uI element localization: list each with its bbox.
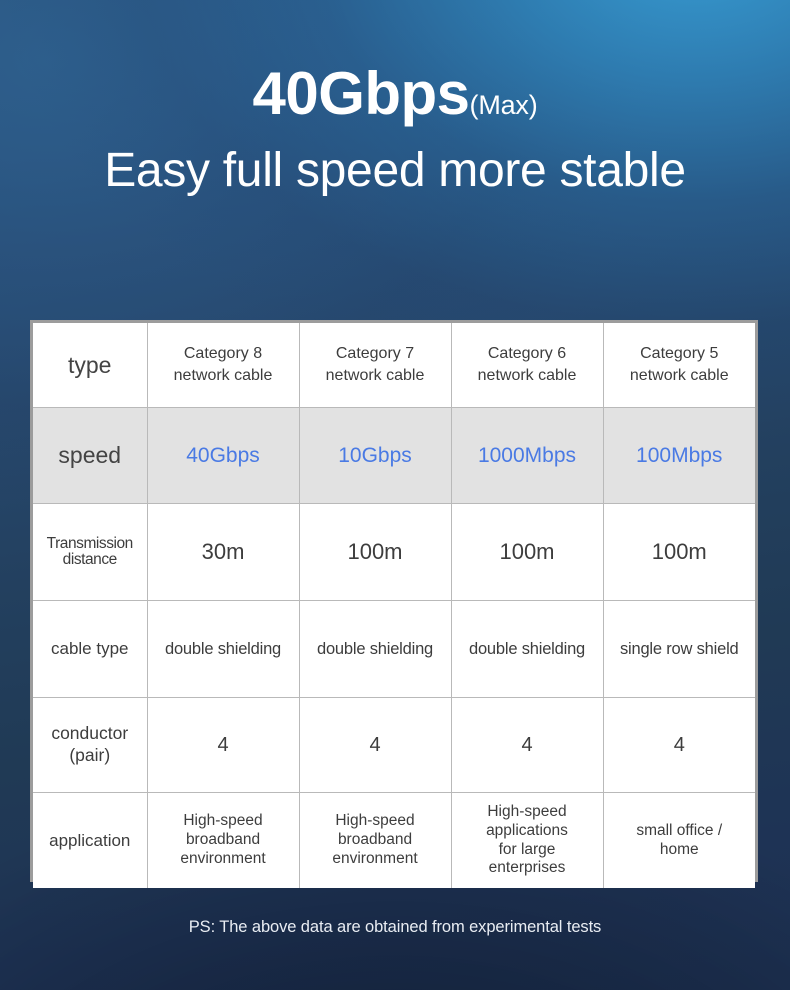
cell-conductor-cat8: 4 [147, 698, 299, 793]
cell-line: High-speed [302, 812, 449, 831]
table-row-speed: speed 40Gbps 10Gbps 1000Mbps 100Mbps [33, 408, 755, 504]
cell-application-cat6: High-speed applications for large enterp… [451, 793, 603, 889]
cell-line: applications [454, 822, 601, 841]
cell-line: High-speed [454, 803, 601, 822]
cell-distance-cat8: 30m [147, 504, 299, 601]
cell-speed-cat7: 10Gbps [299, 408, 451, 504]
cell-application-cat8: High-speed broadband environment [147, 793, 299, 889]
label-line: (pair) [35, 745, 145, 767]
cell-distance-cat5: 100m [603, 504, 755, 601]
cell-line: enterprises [454, 859, 601, 878]
hero-subtitle: Easy full speed more stable [0, 146, 790, 196]
cell-line: Category 7 [302, 343, 449, 365]
cell-type-cat8: Category 8 network cable [147, 323, 299, 408]
cell-type-cat5: Category 5 network cable [603, 323, 755, 408]
cell-conductor-cat7: 4 [299, 698, 451, 793]
cell-speed-cat8: 40Gbps [147, 408, 299, 504]
cell-cabletype-cat6: double shielding [451, 601, 603, 698]
table-row-cable-type: cable type double shielding double shiel… [33, 601, 755, 698]
table-row-conductor: conductor (pair) 4 4 4 4 [33, 698, 755, 793]
cell-cabletype-cat8: double shielding [147, 601, 299, 698]
cell-line: environment [150, 850, 297, 869]
promo-page: 40Gbps(Max) Easy full speed more stable … [0, 0, 790, 990]
cell-speed-cat5: 100Mbps [603, 408, 755, 504]
hero-speed-suffix: (Max) [470, 90, 538, 120]
cell-line: network cable [606, 365, 754, 387]
hero-speed-line: 40Gbps(Max) [0, 64, 790, 124]
cell-line: Category 5 [606, 343, 754, 365]
cell-distance-cat6: 100m [451, 504, 603, 601]
label-line: distance [33, 552, 147, 568]
footnote-text: PS: The above data are obtained from exp… [0, 918, 790, 937]
hero-headline: 40Gbps(Max) Easy full speed more stable [0, 64, 790, 196]
row-label-conductor: conductor (pair) [33, 698, 147, 793]
cell-line: home [606, 841, 754, 860]
row-label-type: type [33, 323, 147, 408]
row-label-application: application [33, 793, 147, 889]
cell-line: broadband [302, 831, 449, 850]
cell-line: network cable [454, 365, 601, 387]
spec-comparison-table: type Category 8 network cable Category 7… [33, 323, 755, 888]
cell-line: environment [302, 850, 449, 869]
cell-conductor-cat6: 4 [451, 698, 603, 793]
cell-line: network cable [302, 365, 449, 387]
row-label-speed: speed [33, 408, 147, 504]
cell-line: broadband [150, 831, 297, 850]
cell-line: network cable [150, 365, 297, 387]
table-row-transmission-distance: Transmission distance 30m 100m 100m 100m [33, 504, 755, 601]
hero-speed-value: 40Gbps [252, 60, 469, 127]
cell-type-cat7: Category 7 network cable [299, 323, 451, 408]
cell-application-cat7: High-speed broadband environment [299, 793, 451, 889]
row-label-cable-type: cable type [33, 601, 147, 698]
cell-conductor-cat5: 4 [603, 698, 755, 793]
table-row-application: application High-speed broadband environ… [33, 793, 755, 889]
label-line: conductor [35, 723, 145, 745]
cell-line: Category 8 [150, 343, 297, 365]
cell-application-cat5: small office / home [603, 793, 755, 889]
cell-line: High-speed [150, 812, 297, 831]
cell-line: small office / [606, 822, 754, 841]
table-row-type: type Category 8 network cable Category 7… [33, 323, 755, 408]
cell-speed-cat6: 1000Mbps [451, 408, 603, 504]
cell-cabletype-cat7: double shielding [299, 601, 451, 698]
cell-line: for large [454, 841, 601, 860]
row-label-transmission-distance: Transmission distance [33, 504, 147, 601]
cell-distance-cat7: 100m [299, 504, 451, 601]
label-line: Transmission [33, 536, 147, 552]
cell-cabletype-cat5: single row shield [603, 601, 755, 698]
cell-line: Category 6 [454, 343, 601, 365]
cell-type-cat6: Category 6 network cable [451, 323, 603, 408]
spec-table-frame: type Category 8 network cable Category 7… [30, 320, 758, 882]
